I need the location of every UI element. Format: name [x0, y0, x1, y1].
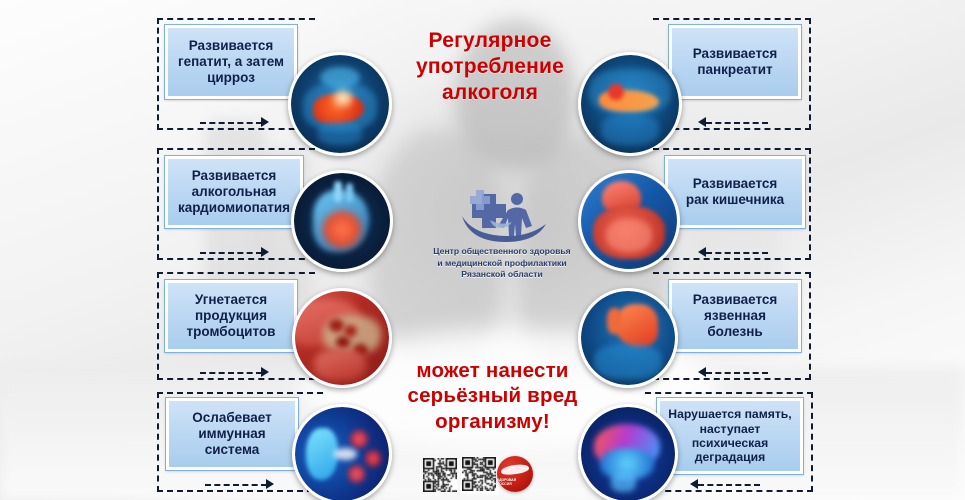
label-line: Развивается	[693, 292, 778, 308]
label-line: Угнетается	[187, 292, 276, 308]
arrow-line-left-1	[200, 122, 262, 124]
arrow-left-icon	[698, 367, 706, 377]
arrow-line-left-3	[200, 372, 262, 374]
arrow-left-icon	[690, 479, 698, 489]
stomach-icon	[578, 288, 678, 388]
label-line: гепатит, а затем	[178, 54, 284, 70]
organization-logo: Центр общественного здоровья и медицинск…	[404, 186, 600, 296]
logo-line: Рязанской области	[404, 269, 600, 281]
arrow-right-icon	[261, 367, 269, 377]
label-line: алкогольная	[178, 184, 290, 200]
brain-icon	[578, 404, 678, 500]
label-line: Развивается	[178, 168, 290, 184]
label-line: Ослабевает	[192, 410, 272, 426]
label-line: психическая	[668, 436, 791, 450]
arrow-right-icon	[261, 247, 269, 257]
arrow-left-icon	[698, 117, 706, 127]
intestines-icon	[578, 170, 680, 272]
qr-code-2[interactable]	[461, 456, 499, 494]
label-box-left-1: Развивается гепатит, а затем цирроз	[165, 25, 297, 99]
arrow-right-icon	[266, 479, 274, 489]
infographic-poster: Развивается гепатит, а затем цирроз Разв…	[0, 0, 965, 500]
arrow-line-right-2	[706, 252, 768, 254]
arrow-line-left-4	[205, 484, 267, 486]
label-line: иммунная	[192, 426, 272, 442]
label-line: Нарушается память,	[668, 407, 791, 421]
label-line: продукция	[187, 308, 276, 324]
arrow-line-right-1	[706, 122, 768, 124]
label-line: система	[192, 442, 272, 458]
label-line: язвенная	[693, 308, 778, 324]
logo-line: и медицинской профилактики	[404, 258, 600, 270]
qr-code-1[interactable]	[423, 458, 457, 492]
organization-name: Центр общественного здоровья и медицинск…	[404, 246, 600, 281]
label-line: рак кишечника	[686, 192, 784, 208]
title-line: Регулярное	[375, 28, 605, 54]
page-title-bottom: может нанести серьёзный вред организму!	[370, 358, 615, 434]
label-line: тромбоцитов	[187, 324, 276, 340]
label-line: кардиомиопатия	[178, 200, 290, 216]
page-title-top: Регулярное употребление алкоголя	[375, 28, 605, 106]
arrow-line-right-3	[706, 372, 768, 374]
label-line: Развивается	[686, 176, 784, 192]
title-line: может нанести	[370, 358, 615, 383]
title-line: организму!	[370, 409, 615, 434]
label-box-left-4: Ослабевает иммунная система	[166, 398, 298, 470]
label-line: болезнь	[693, 324, 778, 340]
red-round-stamp-logo-icon: ЗДОРОВАЯРОССИЯ	[497, 456, 533, 492]
label-line: наступает	[668, 422, 791, 436]
arrow-left-icon	[698, 247, 706, 257]
arrow-line-right-4	[698, 484, 760, 486]
pancreas-icon	[578, 52, 682, 156]
heart-icon	[291, 170, 393, 272]
label-box-right-4: Нарушается память, наступает психическая…	[657, 398, 803, 474]
label-line: Развивается	[178, 38, 284, 54]
title-line: серьёзный вред	[370, 383, 615, 408]
label-box-right-1: Развивается панкреатит	[669, 25, 801, 99]
title-line: употребление	[375, 54, 605, 80]
arrow-right-icon	[261, 117, 269, 127]
label-box-left-2: Развивается алкогольная кардиомиопатия	[165, 156, 303, 228]
label-box-right-2: Развивается рак кишечника	[665, 156, 805, 228]
health-cross-person-logo-icon	[404, 186, 600, 246]
label-line: цирроз	[178, 70, 284, 86]
label-box-left-3: Угнетается продукция тромбоцитов	[165, 280, 297, 352]
label-line: панкреатит	[693, 62, 778, 78]
label-box-right-3: Развивается язвенная болезнь	[669, 280, 801, 352]
title-line: алкоголя	[375, 80, 605, 106]
label-line: деградация	[668, 450, 791, 464]
arrow-line-left-2	[200, 252, 262, 254]
label-line: Развивается	[693, 46, 778, 62]
